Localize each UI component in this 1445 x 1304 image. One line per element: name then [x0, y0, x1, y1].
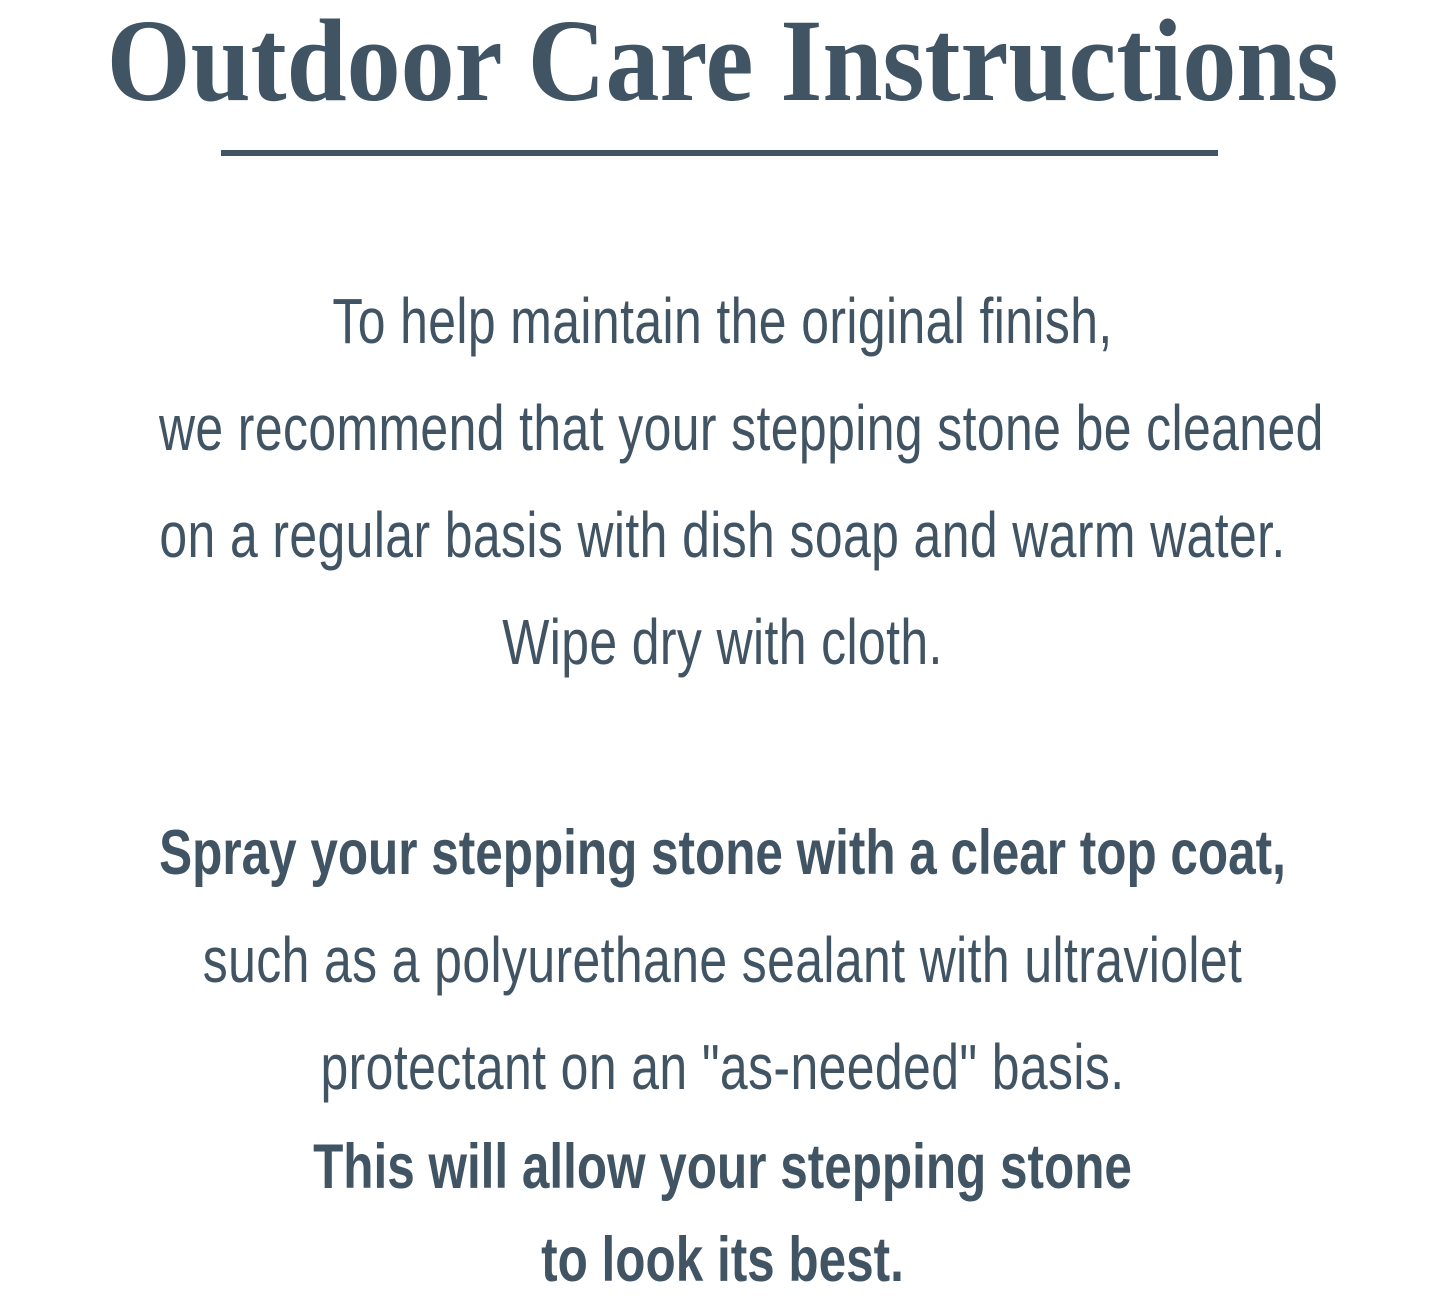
title-divider — [221, 150, 1218, 156]
instruction-line: protectant on an "as-needed" basis. — [159, 1014, 1286, 1121]
title-block: Outdoor Care Instructions — [0, 0, 1445, 120]
instruction-line: Wipe dry with cloth. — [159, 589, 1286, 696]
paragraph-sealant-instructions: Spray your stepping stone with a clear t… — [0, 800, 1445, 1304]
page-title: Outdoor Care Instructions — [61, 0, 1383, 120]
instruction-line: on a regular basis with dish soap and wa… — [159, 482, 1286, 589]
instruction-line-emphasis: Spray your stepping stone with a clear t… — [155, 800, 1289, 907]
care-instructions-page: Outdoor Care Instructions To help mainta… — [0, 0, 1445, 1304]
instruction-line: To help maintain the original finish, — [159, 268, 1286, 375]
instruction-line-emphasis: This will allow your stepping stone — [155, 1121, 1289, 1214]
instruction-line-emphasis: to look its best. — [155, 1214, 1289, 1304]
instruction-line: such as a polyurethane sealant with ultr… — [159, 907, 1286, 1014]
instructions-body: To help maintain the original finish, we… — [0, 268, 1445, 1304]
paragraph-cleaning-instructions: To help maintain the original finish, we… — [0, 268, 1445, 696]
instruction-line: we recommend that your stepping stone be… — [159, 375, 1286, 482]
